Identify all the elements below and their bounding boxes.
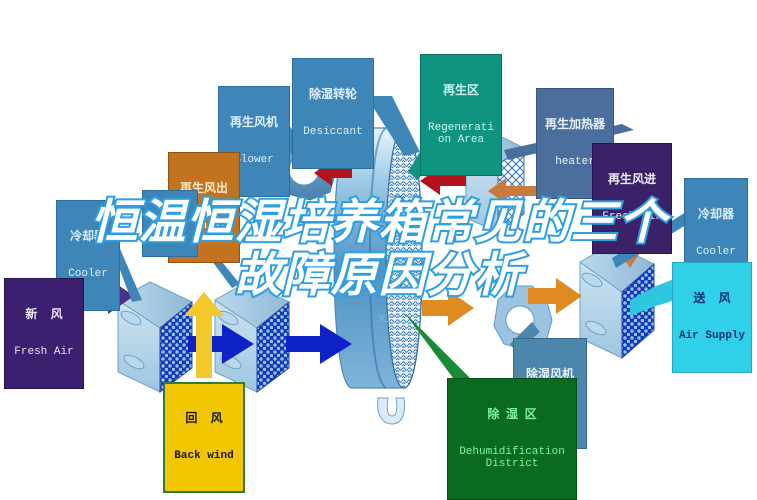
diagram-canvas: X1 — [0, 0, 757, 488]
label-cooler-right-en: Cooler — [687, 247, 745, 259]
label-back-wind-en: Back wind — [167, 451, 241, 463]
label-regeneration-fresh-air[interactable]: 再生风进 Fresh Air — [592, 143, 672, 254]
label-desiccant-wheel-cn: 除湿转轮 — [295, 88, 371, 101]
label-regeneration-blower-cn: 再生风机 — [221, 116, 287, 129]
dehum-out-arrow-1 — [422, 290, 474, 326]
label-cooler-left-2[interactable]: 冷却器 — [142, 190, 198, 257]
label-desiccant-wheel-en: Desiccant — [295, 127, 371, 139]
label-cooler-left-1-cn: 冷却器 — [59, 230, 117, 243]
label-regeneration-heater-cn: 再生加热器 — [539, 118, 611, 131]
label-cooler-left-2-cn: 冷却器 — [145, 218, 195, 230]
label-regeneration-fresh-air-cn: 再生风进 — [595, 173, 669, 186]
label-regeneration-area-en: Regenerati on Area — [423, 123, 499, 147]
label-cooler-right-cn: 冷却器 — [687, 208, 745, 221]
label-regeneration-area[interactable]: 再生区 Regenerati on Area — [420, 54, 502, 176]
label-air-supply-en: Air Supply — [675, 331, 749, 343]
label-dehumidification-district-en: Dehumidification District — [450, 447, 574, 471]
label-regeneration-area-cn: 再生区 — [423, 84, 499, 97]
label-dehumidification-district[interactable]: 除 湿 区 Dehumidification District — [447, 378, 577, 500]
label-back-wind[interactable]: 回 风 Back wind — [163, 382, 245, 493]
label-fresh-air-in-en: Fresh Air — [7, 347, 81, 359]
label-fresh-air-in[interactable]: 新 风 Fresh Air — [4, 278, 84, 389]
label-fresh-air-in-cn: 新 风 — [7, 308, 81, 321]
label-air-supply-cn: 送 风 — [675, 292, 749, 305]
label-desiccant-wheel[interactable]: 除湿转轮 Desiccant — [292, 58, 374, 169]
label-dehumidification-district-cn: 除 湿 区 — [450, 408, 574, 421]
svg-text:X1: X1 — [378, 313, 391, 325]
label-back-wind-cn: 回 风 — [167, 412, 241, 425]
label-regeneration-fresh-air-en: Fresh Air — [595, 212, 669, 224]
label-air-supply[interactable]: 送 风 Air Supply — [672, 262, 752, 373]
